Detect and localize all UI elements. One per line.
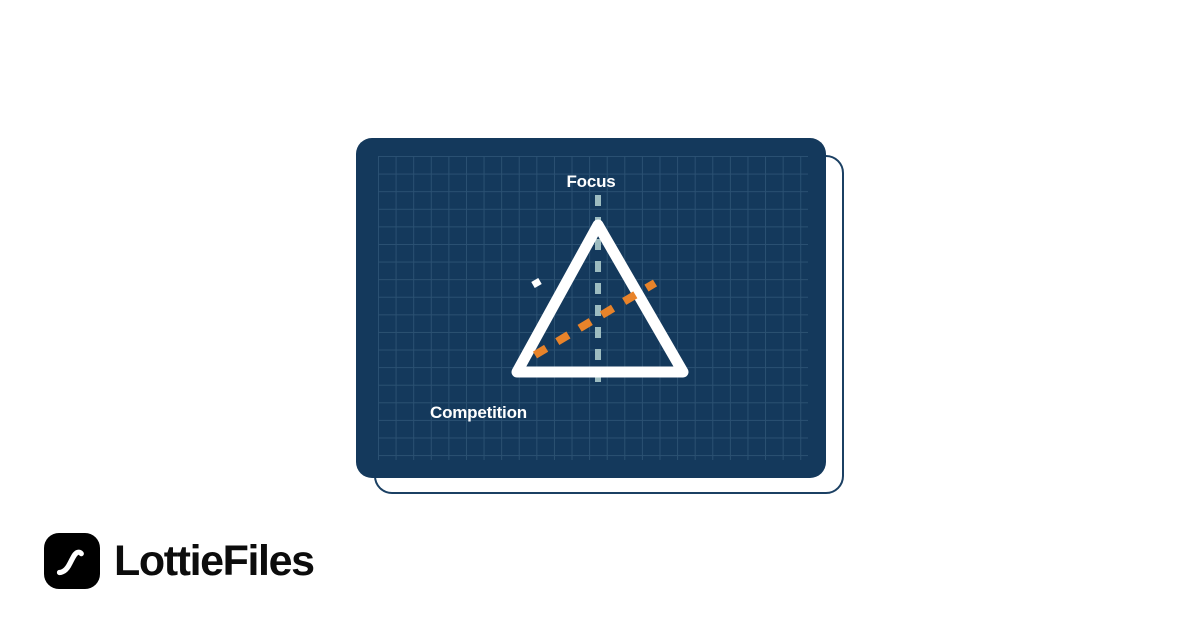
stray-dash-icon [533,281,540,285]
blueprint-card: Focus Competition [356,138,826,478]
lottiefiles-wordmark: LottieFiles [114,540,314,583]
lottiefiles-logo-icon [44,533,100,589]
label-competition: Competition [430,403,547,423]
label-competition-container: Competition [430,403,547,427]
label-focus: Focus [356,172,826,192]
lottie-swoosh-icon [52,541,92,581]
lottiefiles-brand-lockup: LottieFiles [44,530,314,592]
